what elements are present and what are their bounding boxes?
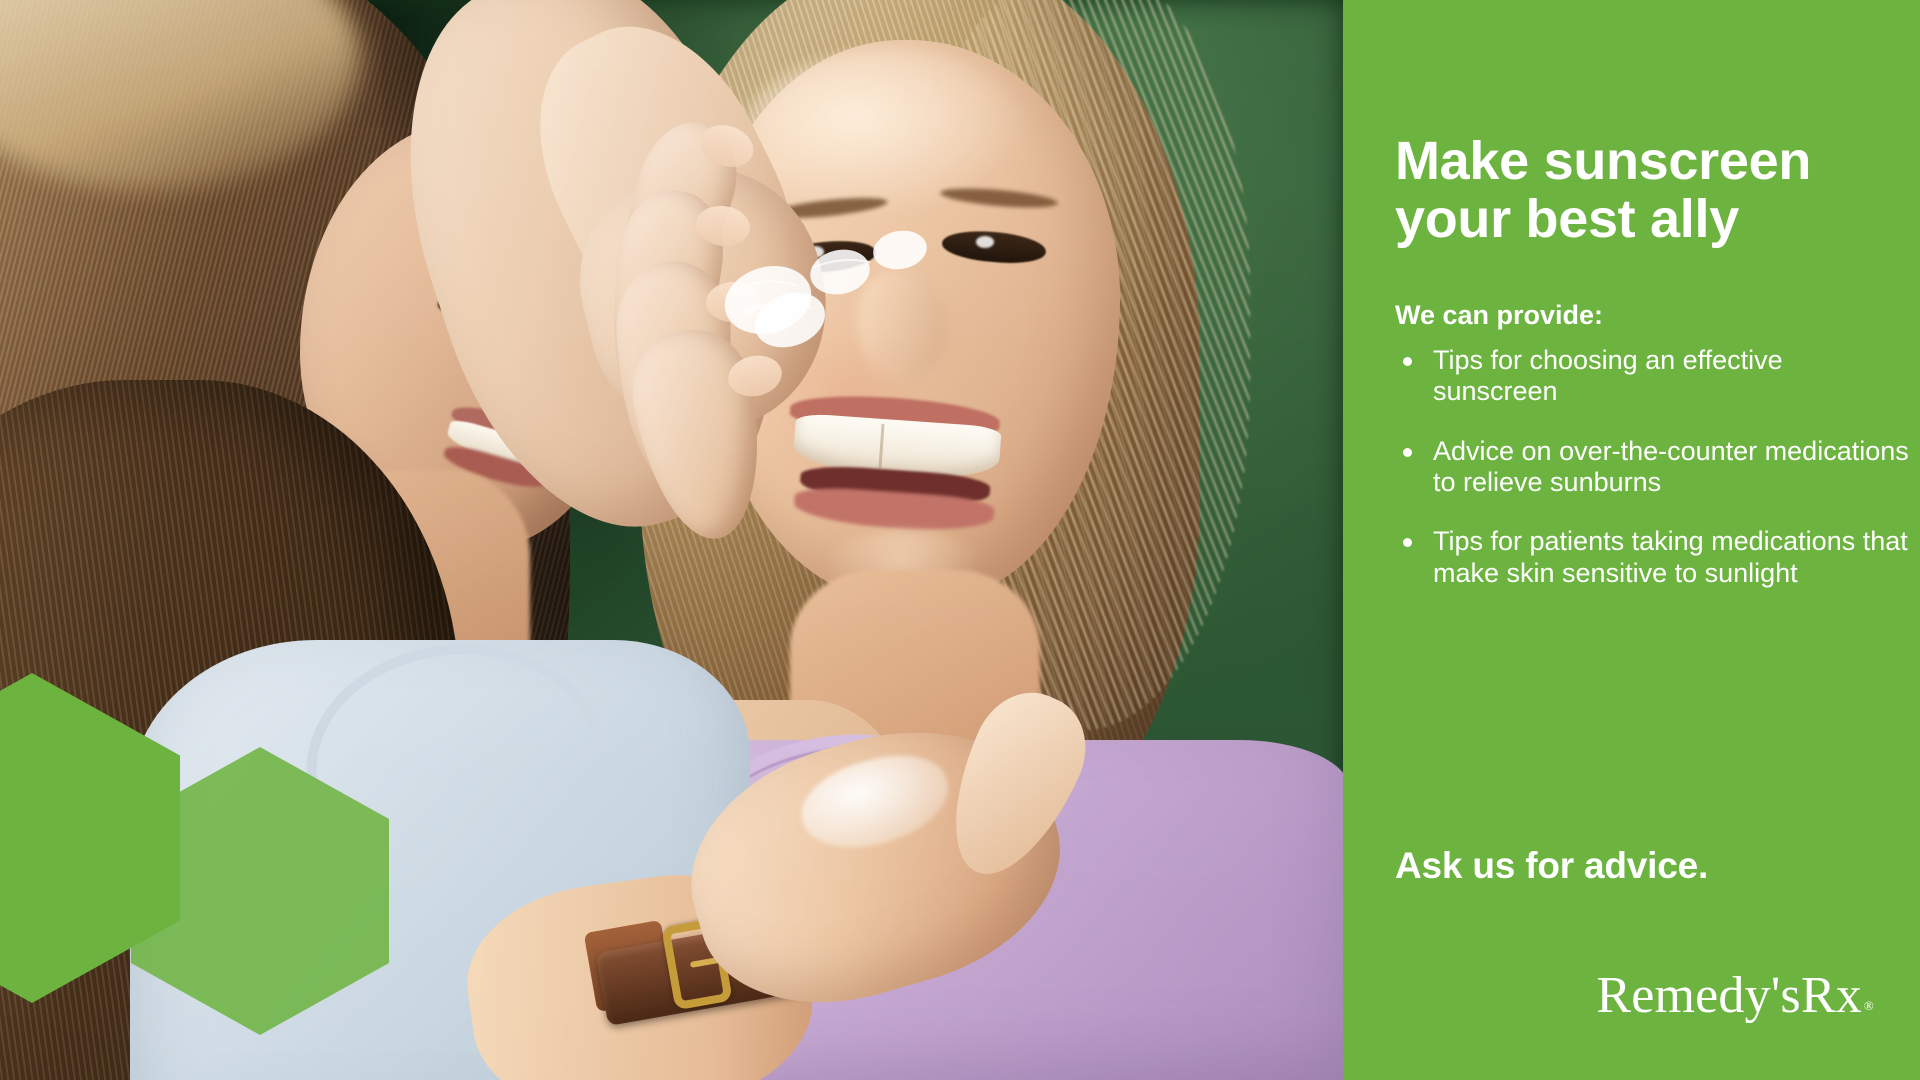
brand-logo: Remedy'sRx® <box>1596 966 1872 1025</box>
bullet-dot-icon <box>1403 538 1412 547</box>
registered-trademark-icon: ® <box>1864 998 1874 1013</box>
services-subheading: We can provide: <box>1395 300 1603 331</box>
list-item-label: Tips for choosing an effective sunscreen <box>1433 345 1783 406</box>
list-item: Tips for choosing an effective sunscreen <box>1395 345 1910 408</box>
sunscreen-awareness-poster: Make sunscreen your best ally We can pro… <box>0 0 1920 1080</box>
list-item-label: Tips for patients taking medications tha… <box>1433 526 1908 587</box>
call-to-action: Ask us for advice. <box>1395 845 1708 887</box>
bullet-dot-icon <box>1403 448 1412 457</box>
brand-logo-name: Remedy'sRx <box>1596 967 1862 1024</box>
bullet-dot-icon <box>1403 357 1412 366</box>
page-title: Make sunscreen your best ally <box>1395 132 1895 249</box>
list-item: Advice on over-the-counter medications t… <box>1395 436 1910 499</box>
lifestyle-photo <box>0 0 1343 1080</box>
girl-eye-highlight-right <box>976 236 994 248</box>
list-item-label: Advice on over-the-counter medications t… <box>1433 436 1909 497</box>
list-item: Tips for patients taking medications tha… <box>1395 526 1910 589</box>
green-message-panel: Make sunscreen your best ally We can pro… <box>1343 0 1920 1080</box>
services-list: Tips for choosing an effective sunscreen… <box>1395 345 1910 617</box>
